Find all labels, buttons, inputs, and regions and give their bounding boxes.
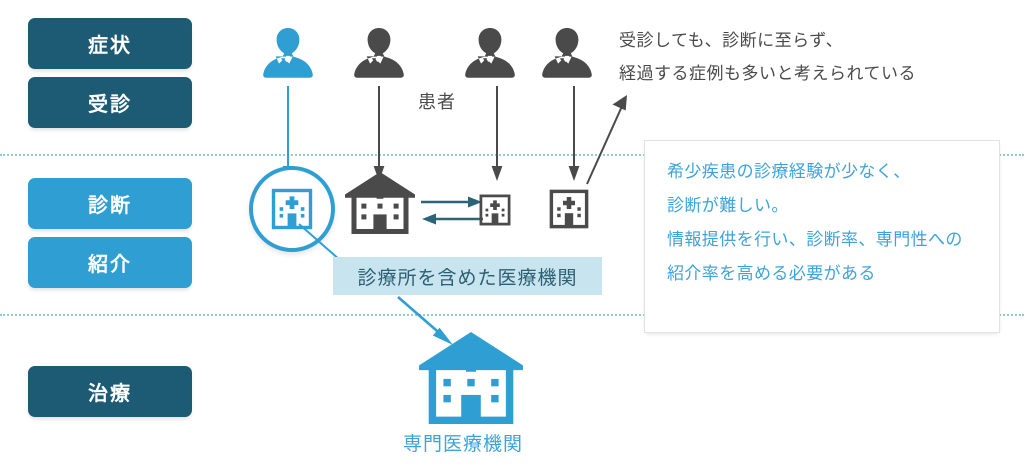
- rare-disease-note-line-1: 希少疾患の診療経験が少なく、: [667, 155, 977, 189]
- stage-button-symptom[interactable]: 症状: [28, 18, 192, 69]
- rare-disease-note-line-3: 情報提供を行い、診断率、専門性への: [667, 223, 977, 257]
- stage-label: 症状: [88, 29, 132, 58]
- undiagnosed-note-line-2: 経過する症例も多いと考えられている: [619, 57, 916, 90]
- callout-label: 診療所を含めた医療機関: [357, 263, 577, 290]
- referral-arrows-bidirectional: [421, 195, 483, 227]
- medical-institution-callout: 診療所を含めた医療機関: [333, 257, 602, 295]
- rare-disease-note-box: 希少疾患の診療経験が少なく、 診断が難しい。 情報提供を行い、診断率、専門性への…: [644, 140, 1000, 333]
- flow-arrow-patient-2: [372, 86, 386, 182]
- stage-button-visit[interactable]: 受診: [28, 77, 192, 128]
- stage-label: 診断: [88, 189, 132, 218]
- person-icon-patient-3: [464, 24, 516, 86]
- person-icon-patient-1: [262, 24, 314, 86]
- rare-disease-note-line-4: 紹介率を高める必要がある: [667, 257, 977, 291]
- rare-disease-note-line-2: 診断が難しい。: [667, 189, 977, 223]
- stage-button-diagnosis[interactable]: 診断: [28, 178, 192, 229]
- person-icon-patient-2: [353, 24, 405, 86]
- undiagnosed-note-line-1: 受診しても、診断に至らず、: [619, 24, 916, 57]
- stage-label: 治療: [88, 377, 132, 406]
- stage-label: 紹介: [88, 248, 132, 277]
- stage-button-treatment[interactable]: 治療: [28, 366, 192, 417]
- person-icon-patient-4: [541, 24, 593, 86]
- flow-arrow-patient-4: [567, 86, 581, 182]
- stage-button-referral[interactable]: 紹介: [28, 237, 192, 288]
- small-clinic-a-icon: [479, 194, 511, 226]
- undiagnosed-note: 受診しても、診断に至らず、 経過する症例も多いと考えられている: [619, 24, 916, 90]
- specialized-hospital-icon: [417, 332, 525, 424]
- flow-arrow-patient-3: [490, 86, 504, 182]
- stage-label: 受診: [88, 88, 132, 117]
- undiagnosed-outcome-arrow: [583, 92, 631, 188]
- specialized-hospital-label: 専門医療機関: [403, 429, 523, 456]
- general-hospital-icon: [344, 172, 416, 234]
- small-clinic-b-icon: [549, 189, 589, 229]
- patient-label: 患者: [418, 88, 456, 114]
